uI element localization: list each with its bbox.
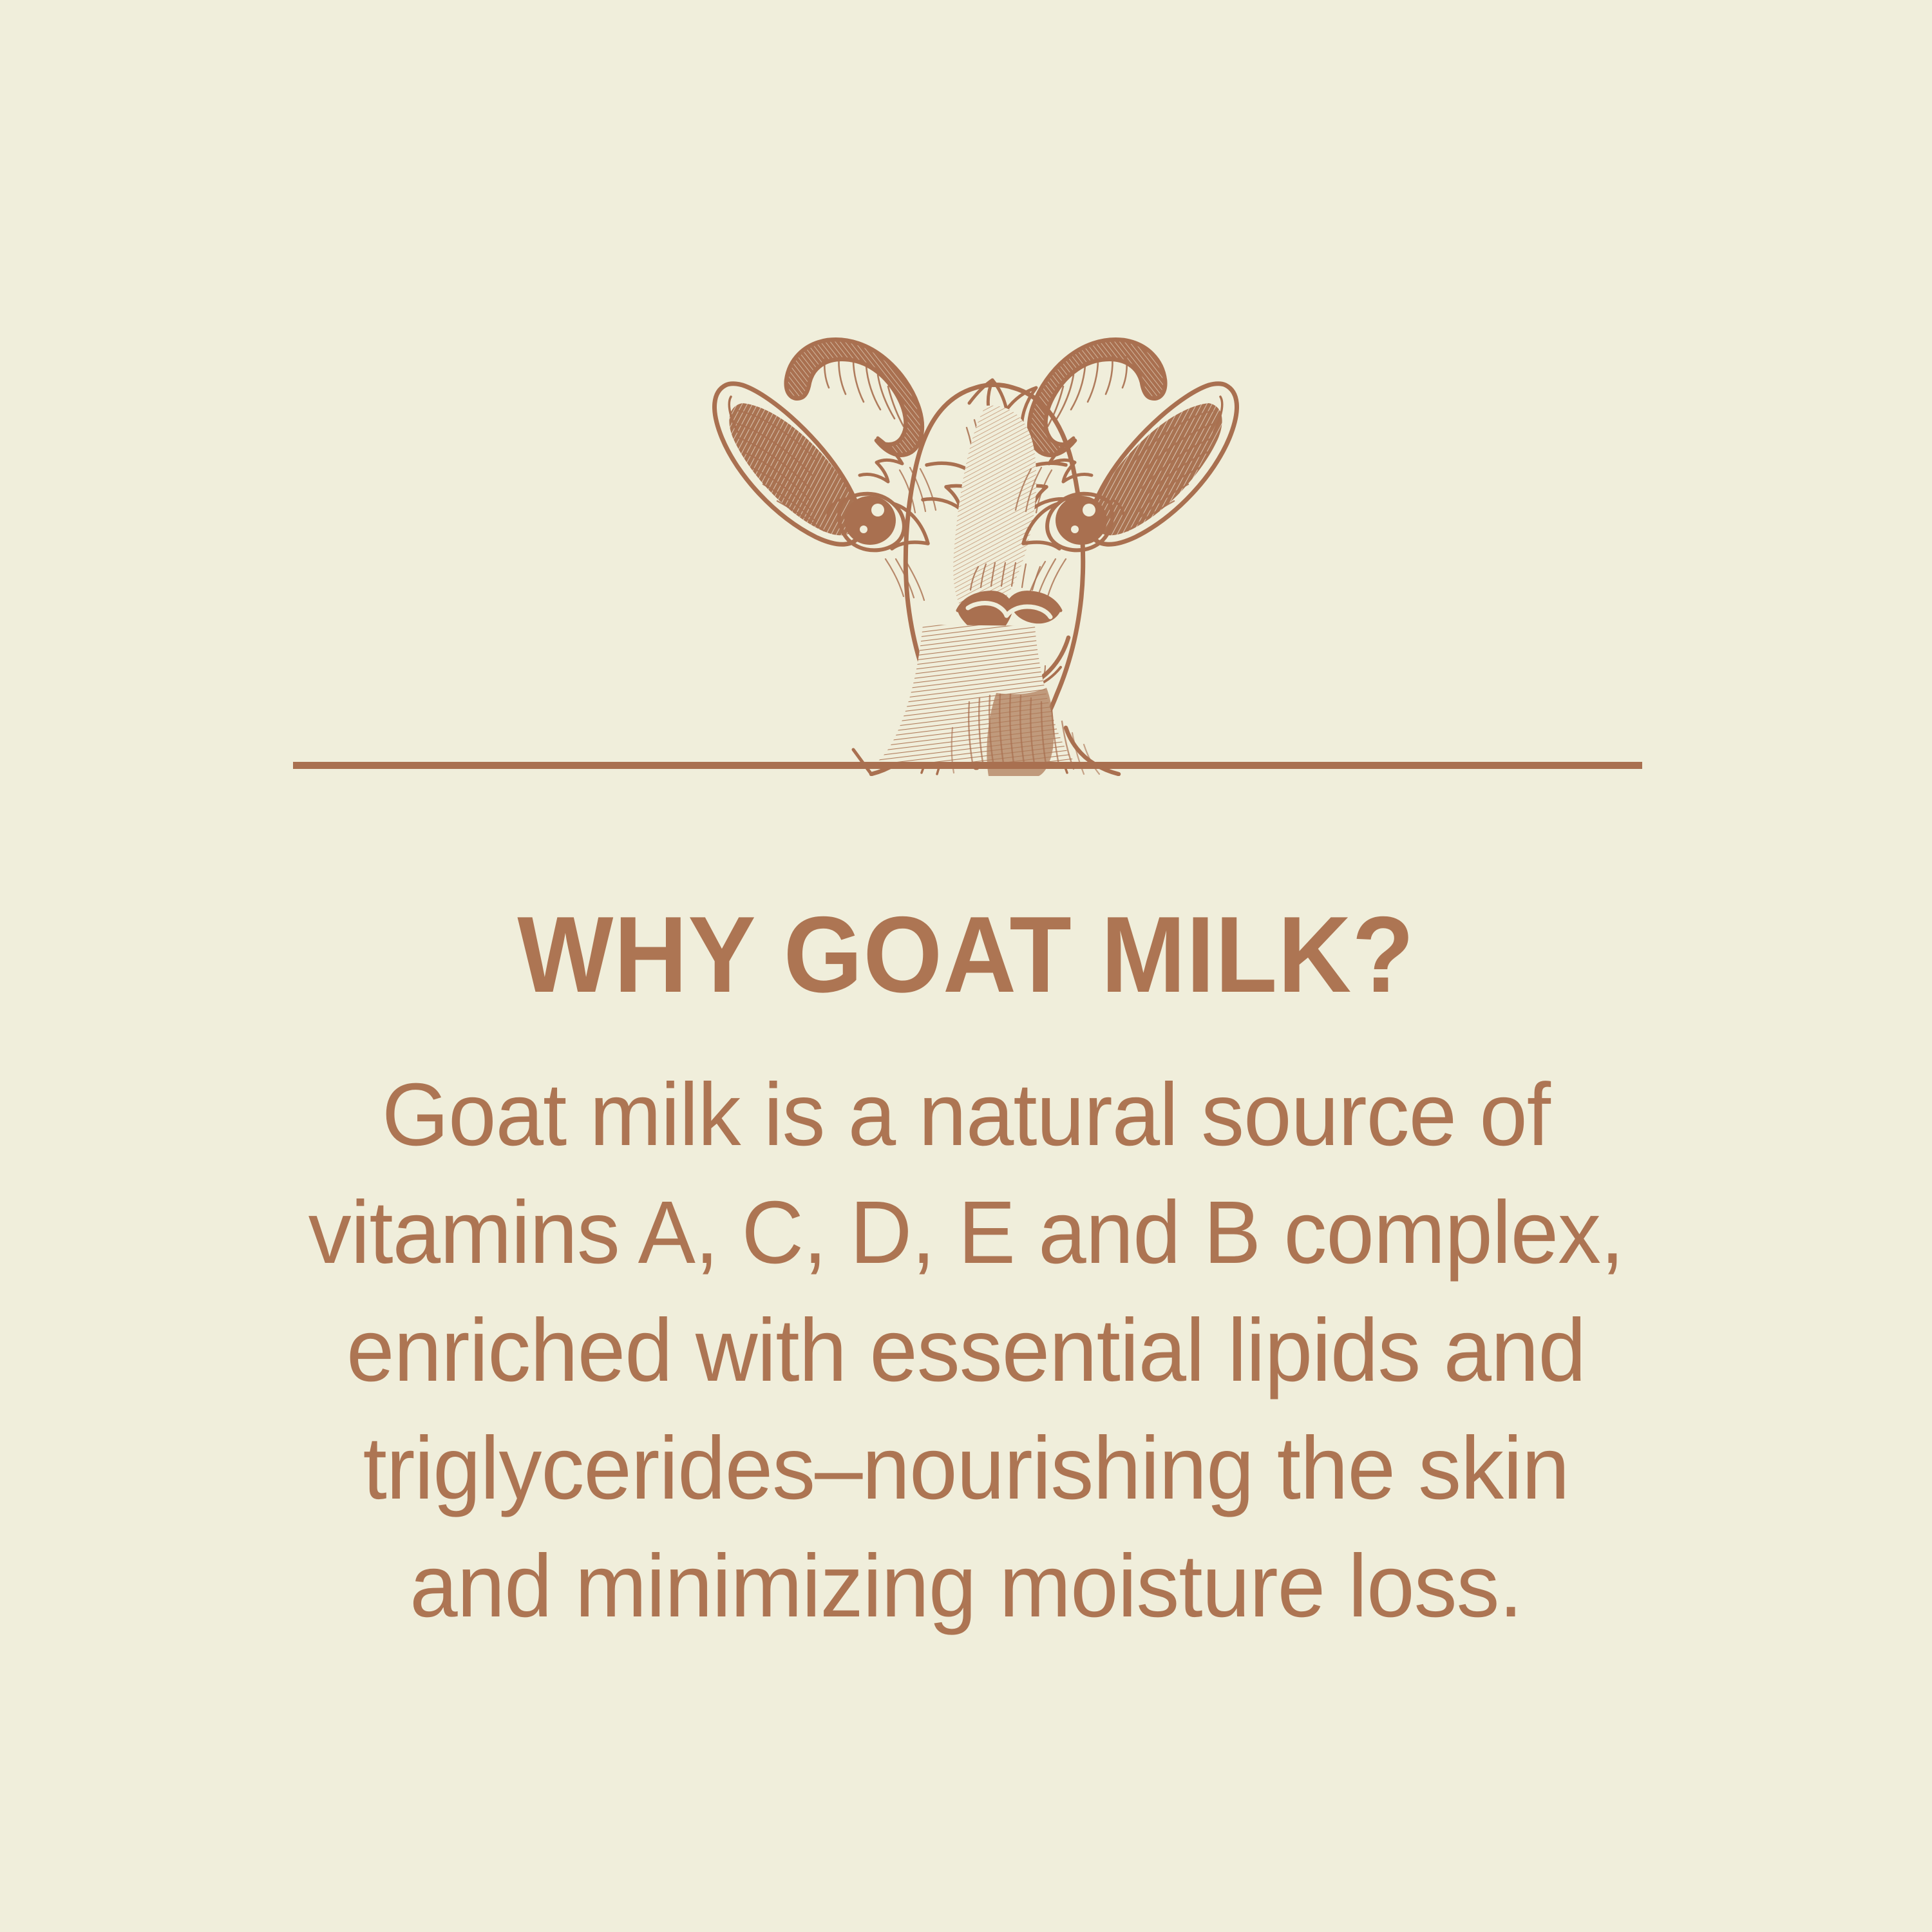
body-line-2: vitamins A, C, D, E and B complex, [29,1174,1903,1292]
goat-right-pupil [1056,496,1107,545]
goat-right-eye-highlight [1083,504,1095,516]
page-title: WHY GOAT MILK? [58,900,1874,1009]
body-line-1: Goat milk is a natural source of [29,1056,1903,1174]
body-line-5: and minimizing moisture loss. [29,1528,1903,1645]
horizontal-rule [293,762,1642,769]
body-line-4: triglycerides–nourishing the skin [29,1410,1903,1528]
goat-left-pupil [844,496,896,545]
goat-illustration [667,277,1285,776]
goat-left-eye-highlight [871,504,884,516]
goat-head-icon [667,277,1285,776]
goat-milk-info-card: WHY GOAT MILK? Goat milk is a natural so… [0,0,1932,1932]
body-line-3: enriched with essential lipids and [29,1292,1903,1410]
body-copy: Goat milk is a natural source of vitamin… [0,1056,1932,1645]
